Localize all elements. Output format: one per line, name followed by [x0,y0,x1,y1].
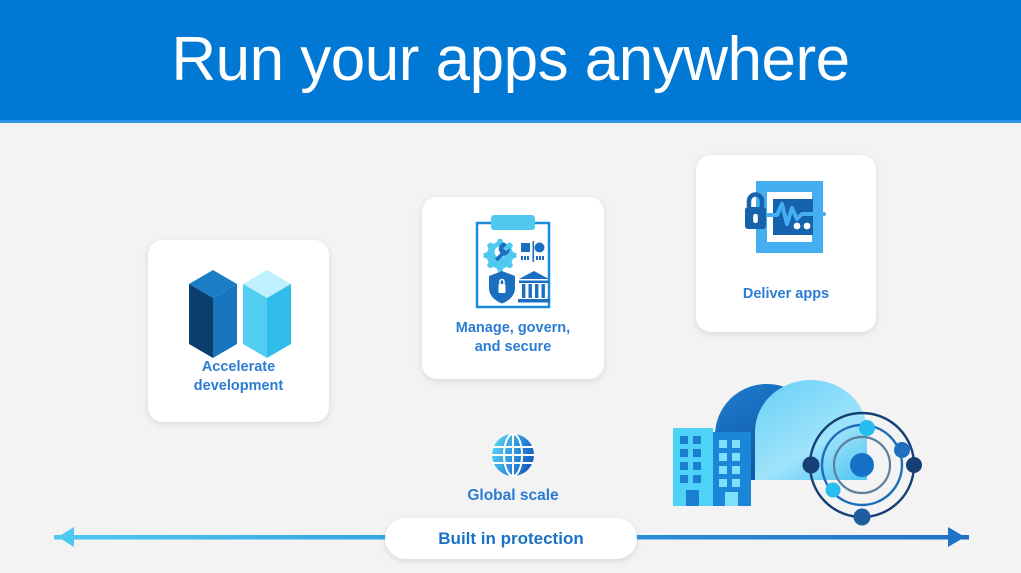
globe-icon [422,430,604,480]
card-deliver-label: Deliver apps [696,285,876,304]
built-in-protection-pill[interactable]: Built in protection [385,518,637,559]
clipboard-governance-icon [467,213,559,318]
card-deliver-apps[interactable]: Deliver apps [696,155,876,332]
global-scale-label: Global scale [422,487,604,505]
card-manage-label-line1: Manage, govern, [456,320,570,336]
slide-canvas: Run your apps anywhere Accelerate develo… [0,0,1021,573]
card-accelerate-development[interactable]: Accelerate development [148,240,329,422]
card-accelerate-label-line1: Accelerate [202,359,275,375]
card-manage-label-line2: and secure [475,339,552,355]
global-scale-group[interactable]: Global scale [422,430,604,505]
built-in-protection-label: Built in protection [438,529,583,549]
cloud-buildings-atom-illustration [655,370,945,530]
card-manage-label: Manage, govern, and secure [422,319,604,357]
card-manage-govern-secure[interactable]: Manage, govern, and secure [422,197,604,379]
card-accelerate-label-line2: development [194,378,283,394]
screen-lock-icon [739,177,833,270]
page-title: Run your apps anywhere [0,20,1021,100]
isometric-blocks-icon [183,262,295,372]
buildings-icon [673,428,751,506]
header-underline [0,120,1021,123]
card-accelerate-label: Accelerate development [148,358,329,396]
